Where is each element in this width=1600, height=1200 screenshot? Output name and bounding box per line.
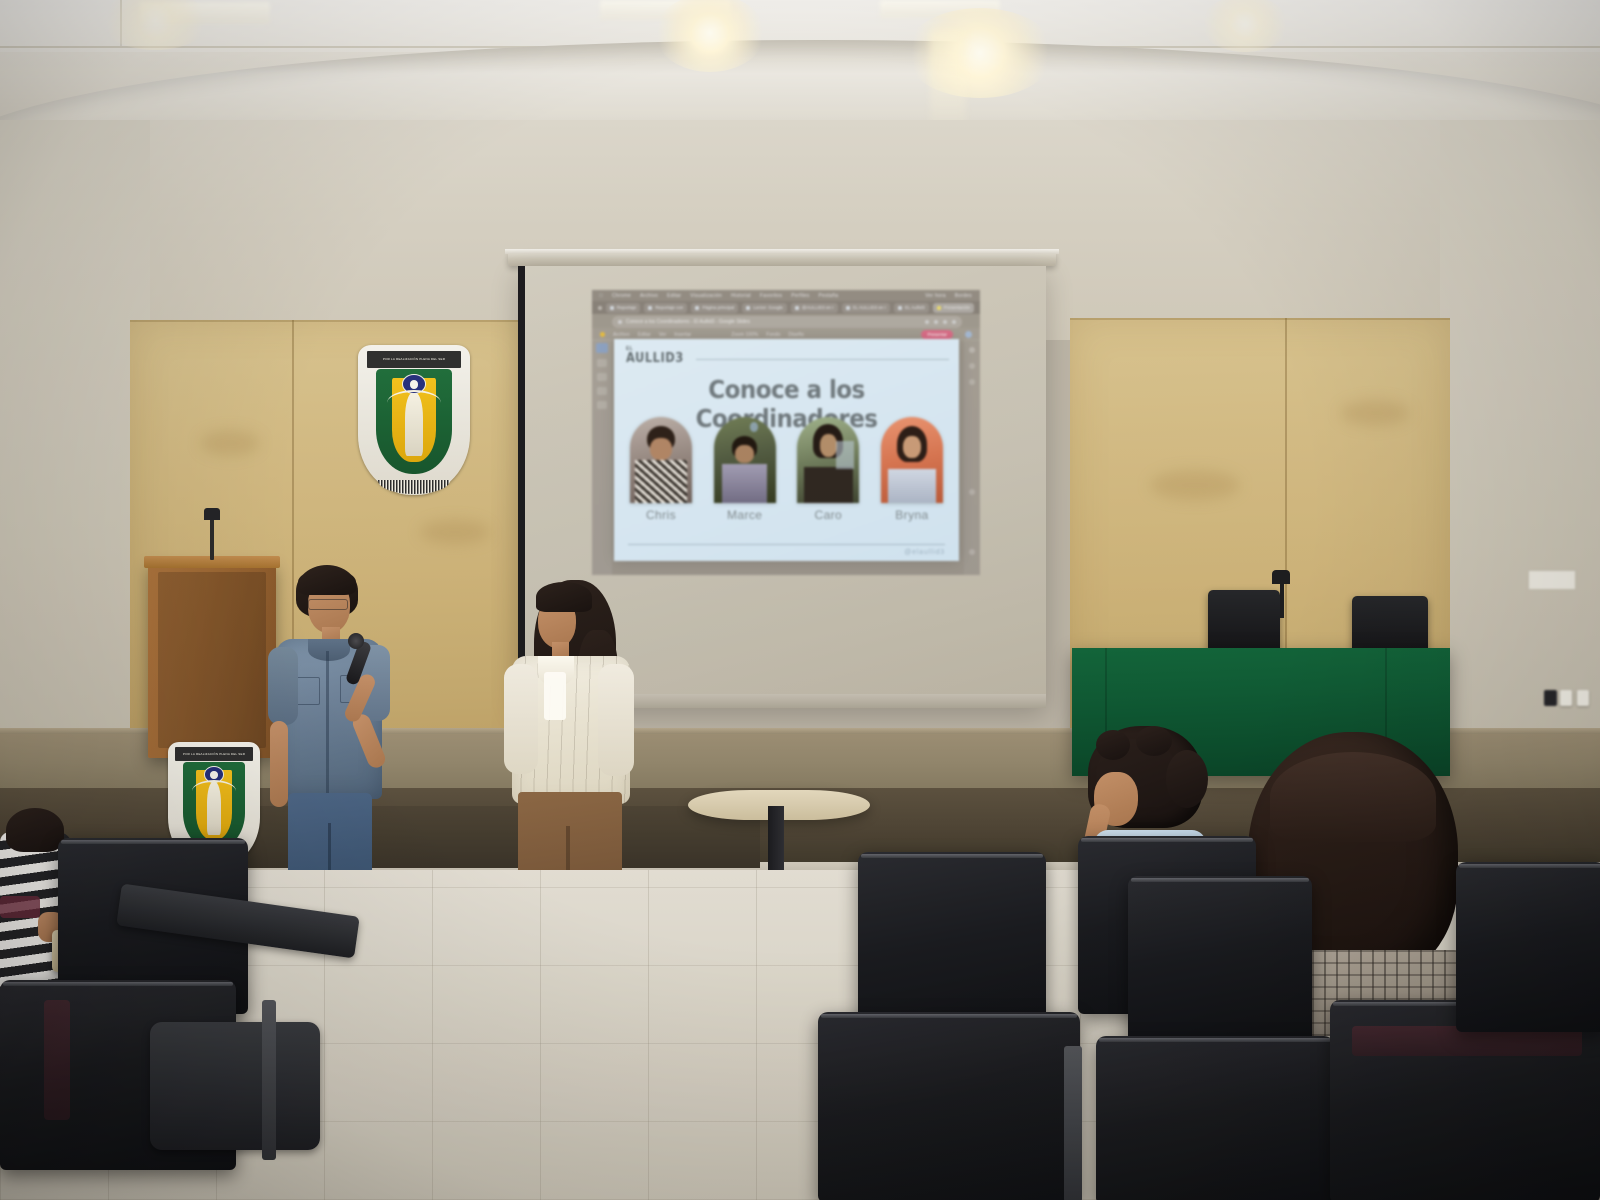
downlight bbox=[905, 8, 1055, 98]
tab-label: EL Aullid3 bbox=[905, 305, 925, 310]
browser-tab[interactable]: @AULLID3 en I bbox=[791, 303, 838, 313]
slide-top-rule bbox=[696, 359, 949, 360]
wood-grain bbox=[420, 520, 490, 544]
coordinator-portrait bbox=[881, 417, 943, 503]
share-icon[interactable] bbox=[934, 320, 938, 324]
browser-tab[interactable]: EL Aullid3 bbox=[894, 303, 929, 313]
seat-tablet-arm[interactable] bbox=[150, 1022, 320, 1150]
coordinator-name: Bryna bbox=[881, 508, 943, 522]
wood-grain bbox=[200, 430, 260, 456]
menu-item[interactable]: Archivo bbox=[640, 293, 658, 299]
coordinator-name: Marce bbox=[714, 508, 776, 522]
eyeglasses bbox=[308, 599, 348, 610]
browser-tab[interactable]: Reportaje bbox=[606, 303, 641, 313]
browser-tabstrip: Reportaje Reportaje con Página principal… bbox=[592, 301, 980, 314]
shield-motto: POR LA REALIZACIÓN PLENA DEL SER bbox=[175, 747, 252, 761]
toolbar-item[interactable]: Archivo bbox=[613, 332, 630, 338]
menu-item[interactable]: Visualización bbox=[690, 293, 722, 299]
url-text: Conoce a los Coordinadores - El Aullid3 … bbox=[626, 319, 750, 325]
coordinators-row: Chris Marce bbox=[630, 417, 943, 522]
seat-frame bbox=[1064, 1046, 1082, 1200]
user-avatar[interactable] bbox=[965, 331, 972, 338]
slide-handle: @elaullid3 bbox=[904, 549, 945, 556]
present-button[interactable]: Presentar bbox=[921, 330, 953, 339]
seat-frame bbox=[262, 1000, 276, 1160]
tab-label: Presentación bbox=[944, 305, 970, 310]
slide-thumbnail[interactable] bbox=[597, 401, 607, 409]
slide-thumbnail[interactable] bbox=[597, 359, 607, 367]
browser-tab[interactable]: EL AULLID3 en I bbox=[842, 303, 890, 313]
slides-app-icon bbox=[600, 332, 605, 337]
menu-item[interactable]: Chrome bbox=[612, 293, 631, 299]
bookmark-icon[interactable] bbox=[925, 320, 929, 324]
apple-icon:  bbox=[599, 293, 603, 299]
wall-outlet bbox=[1560, 690, 1572, 706]
projected-browser:  Chrome Archivo Editar Visualización Hi… bbox=[592, 290, 980, 575]
seat-back-accent bbox=[44, 1000, 70, 1120]
menu-item[interactable]: Perfiles bbox=[791, 293, 809, 299]
coordinator-portrait bbox=[714, 417, 776, 503]
tab-label: EL AULLID3 en I bbox=[853, 305, 886, 310]
wall-sign bbox=[1528, 570, 1576, 590]
slide-canvas[interactable]: EL AULLID3 Conoce a los Coordinadores Ch… bbox=[614, 339, 959, 561]
coordinator-card: Caro bbox=[797, 417, 859, 522]
slide-thumbnail[interactable] bbox=[596, 343, 608, 353]
wood-seam bbox=[130, 320, 530, 322]
screen-housing bbox=[508, 252, 1056, 266]
extensions-icon[interactable] bbox=[943, 320, 947, 324]
browser-tab[interactable]: Página principal bbox=[691, 303, 738, 313]
auditorium-seat[interactable] bbox=[1096, 1036, 1334, 1200]
seat-cushion bbox=[0, 896, 40, 918]
profile-icon[interactable] bbox=[952, 320, 956, 324]
menu-item[interactable]: Historial bbox=[731, 293, 751, 299]
toolbar-item[interactable]: Editar bbox=[638, 332, 651, 338]
uabc-shield-wall: POR LA REALIZACIÓN PLENA DEL SER bbox=[358, 345, 470, 495]
slide-bottom-rule bbox=[628, 544, 945, 545]
slides-filmstrip[interactable] bbox=[592, 339, 612, 575]
slide-thumbnail[interactable] bbox=[597, 387, 607, 395]
wall-outlet bbox=[1577, 690, 1589, 706]
menu-status-item[interactable]: Bordes bbox=[955, 293, 972, 299]
auditorium-seat[interactable] bbox=[1456, 862, 1600, 1032]
rail-icon[interactable] bbox=[969, 347, 975, 353]
menu-item[interactable]: Favoritos bbox=[760, 293, 782, 299]
menu-item[interactable]: Pestaña bbox=[819, 293, 839, 299]
menu-item[interactable]: Editar bbox=[667, 293, 681, 299]
coordinator-portrait bbox=[797, 417, 859, 503]
coordinator-portrait bbox=[630, 417, 692, 503]
wood-seam bbox=[1070, 318, 1450, 320]
slide-logo-main: AULLID3 bbox=[626, 352, 684, 365]
podium-microphone-head bbox=[204, 508, 220, 520]
wood-grain bbox=[1150, 470, 1240, 500]
table-microphone-head bbox=[1272, 570, 1290, 584]
auditorium-seat[interactable] bbox=[818, 1012, 1080, 1200]
tab-label: Lector: Google bbox=[753, 305, 783, 310]
toolbar-center-item[interactable]: Diseño bbox=[788, 332, 804, 338]
head-table-chair[interactable] bbox=[1352, 596, 1428, 656]
tab-label: Reportaje bbox=[617, 305, 637, 310]
lock-icon bbox=[618, 320, 622, 324]
toolbar-center-item[interactable]: Zoom 100% bbox=[731, 332, 758, 338]
coordinator-name: Chris bbox=[630, 508, 692, 522]
left-wall bbox=[0, 120, 150, 820]
toolbar-item[interactable]: Insertar bbox=[674, 332, 691, 338]
present-button-label: Presentar bbox=[927, 332, 947, 337]
slide-logo: EL AULLID3 bbox=[626, 347, 692, 365]
rail-icon[interactable] bbox=[969, 363, 975, 369]
shield-motto: POR LA REALIZACIÓN PLENA DEL SER bbox=[367, 351, 461, 368]
podium-microphone-stem bbox=[210, 516, 214, 560]
table-microphone-stem bbox=[1280, 578, 1284, 618]
coordinator-card: Chris bbox=[630, 417, 692, 522]
slides-right-rail[interactable] bbox=[964, 339, 980, 575]
coordinator-card: Marce bbox=[714, 417, 776, 522]
menu-status-item[interactable]: Ver hora bbox=[925, 293, 946, 299]
auditorium-seat[interactable] bbox=[1128, 876, 1312, 1042]
slide-thumbnail[interactable] bbox=[597, 373, 607, 381]
auditorium-photo: POR LA REALIZACIÓN PLENA DEL SER  Chrom… bbox=[0, 0, 1600, 1200]
microphone-head bbox=[348, 633, 364, 649]
rail-icon[interactable] bbox=[969, 489, 975, 495]
tab-label: Reportaje con bbox=[655, 305, 683, 310]
wall-outlet bbox=[1544, 690, 1557, 706]
screen-housing-lip bbox=[505, 249, 1059, 254]
browser-tab[interactable]: Reportaje con bbox=[644, 303, 687, 313]
rail-icon[interactable] bbox=[969, 549, 975, 555]
browser-tab-active[interactable]: Presentación bbox=[933, 303, 974, 313]
browser-menubar:  Chrome Archivo Editar Visualización Hi… bbox=[592, 290, 980, 301]
wood-grain bbox=[1340, 400, 1410, 426]
toolbar-item[interactable]: Ver bbox=[659, 332, 667, 338]
coordinator-name: Caro bbox=[797, 508, 859, 522]
rail-icon[interactable] bbox=[969, 379, 975, 385]
tab-label: @AULLID3 en I bbox=[802, 305, 834, 310]
back-icon[interactable] bbox=[598, 306, 602, 310]
head-table-chair[interactable] bbox=[1208, 590, 1280, 652]
tab-label: Página principal bbox=[702, 305, 734, 310]
coordinator-card: Bryna bbox=[881, 417, 943, 522]
browser-tab[interactable]: Lector: Google bbox=[742, 303, 787, 313]
browser-url-bar[interactable]: Conoce a los Coordinadores - El Aullid3 … bbox=[612, 316, 962, 328]
toolbar-center-item[interactable]: Fondo bbox=[766, 332, 780, 338]
